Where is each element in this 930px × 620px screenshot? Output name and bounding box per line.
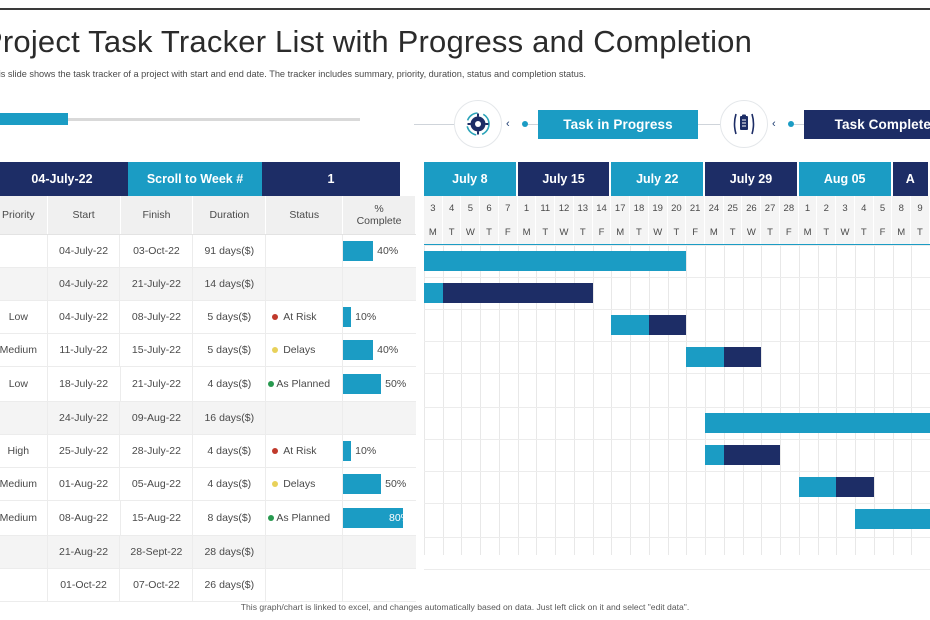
gantt-day-cell: 7: [499, 196, 518, 220]
cell-priority: [0, 402, 48, 434]
gantt-dow-cell: M: [611, 220, 630, 244]
gantt-week-band: July 22: [611, 162, 705, 196]
status-dot: [272, 347, 278, 353]
gantt-bar[interactable]: [724, 347, 761, 367]
cell-duration: 5 days($): [193, 301, 266, 333]
status-label: As Planned: [276, 512, 330, 524]
cell-finish: 09-Aug-22: [120, 402, 193, 434]
gantt-dow-cell: T: [536, 220, 555, 244]
gantt-gridline-h: [424, 245, 930, 246]
gantt-week-band: July 15: [518, 162, 612, 196]
cell-status: As Planned: [266, 501, 343, 535]
gantt-gridline-v: [593, 245, 594, 555]
gantt-dow-cell: F: [686, 220, 705, 244]
percent-label: 50%: [385, 378, 406, 390]
cell-percent: 50%: [343, 468, 416, 500]
cell-finish: 15-July-22: [120, 334, 193, 366]
gantt-gridline-v: [611, 245, 612, 555]
th-duration: Duration: [193, 196, 266, 234]
cell-priority: Medium: [0, 334, 48, 366]
gantt-bar[interactable]: [705, 445, 724, 465]
cell-percent: 10%: [343, 301, 416, 333]
th-status: Status: [266, 196, 343, 234]
th-start: Start: [48, 196, 121, 234]
cell-percent: 50%: [343, 367, 416, 401]
gantt-bar[interactable]: [611, 315, 648, 335]
gantt-dow-cell: W: [649, 220, 668, 244]
table-row[interactable]: Low18-July-2221-July-224 days($)As Plann…: [0, 367, 416, 402]
cell-status: [266, 268, 343, 300]
cell-status: [266, 569, 343, 601]
cell-duration: 26 days($): [193, 569, 266, 601]
gantt-day-cell: 5: [874, 196, 893, 220]
table-row[interactable]: 24-July-2209-Aug-2216 days($): [0, 402, 416, 435]
gantt-gridline-v: [705, 245, 706, 555]
gantt-gridline-h: [424, 309, 930, 310]
percent-label: 10%: [355, 311, 376, 323]
percent-label: 10%: [355, 445, 376, 457]
gantt-day-cell: 24: [705, 196, 724, 220]
gantt-dow-cell: W: [742, 220, 761, 244]
gantt-dow-cell: T: [630, 220, 649, 244]
gantt-dow-cell: M: [424, 220, 443, 244]
gantt-day-cell: 26: [742, 196, 761, 220]
table-header-row: Priority Start Finish Duration Status %C…: [0, 196, 416, 235]
gantt-gridline-v: [630, 245, 631, 555]
gantt-week-band: July 8: [424, 162, 518, 196]
gantt-bar[interactable]: [799, 477, 836, 497]
cell-status: At Risk: [266, 301, 343, 333]
cell-finish: 15-Aug-22: [121, 501, 194, 535]
gantt-day-cell: 9: [911, 196, 930, 220]
gantt-dow-cell: F: [780, 220, 799, 244]
gantt-bar[interactable]: [424, 251, 686, 271]
gantt-dow-cell: T: [574, 220, 593, 244]
cell-duration: 8 days($): [193, 501, 266, 535]
cell-finish: 21-July-22: [121, 367, 194, 401]
gantt-day-cell: 25: [724, 196, 743, 220]
cell-finish: 03-Oct-22: [120, 235, 193, 267]
gantt-week-band: Aug 05: [799, 162, 893, 196]
th-percent-complete: %Complete: [343, 196, 416, 234]
table-row[interactable]: 21-Aug-2228-Sept-2228 days($): [0, 536, 416, 569]
cell-percent: [343, 536, 416, 568]
top-rule: [0, 8, 930, 10]
gantt-dow-cell: T: [480, 220, 499, 244]
cell-priority: [0, 536, 48, 568]
gantt-dow-cell: F: [593, 220, 612, 244]
cell-percent: 80%: [343, 501, 416, 535]
table-row[interactable]: High25-July-2228-July-224 days($)At Risk…: [0, 435, 416, 468]
cell-duration: 4 days($): [193, 435, 266, 467]
gantt-day-cell: 8: [892, 196, 911, 220]
scroll-to-week-value[interactable]: 1: [262, 162, 400, 196]
gantt-gridline-v: [818, 245, 819, 555]
cell-duration: 28 days($): [193, 536, 266, 568]
cell-status: [266, 402, 343, 434]
status-dot: [272, 448, 278, 454]
gantt-bar[interactable]: [443, 283, 593, 303]
cell-priority: [0, 268, 48, 300]
cell-duration: 91 days($): [193, 235, 266, 267]
cell-start: 01-Aug-22: [48, 468, 121, 500]
gear-icon: [454, 100, 502, 148]
cell-start: 18-July-22: [48, 367, 121, 401]
gantt-day-cell: 2: [817, 196, 836, 220]
cell-priority: High: [0, 435, 48, 467]
gantt-day-cell: 3: [424, 196, 443, 220]
gantt-dow-cell: T: [668, 220, 687, 244]
cell-percent: 40%: [343, 334, 416, 366]
cell-status: Delays: [266, 334, 343, 366]
legend-connector: [414, 124, 454, 125]
gantt-bar[interactable]: [686, 347, 723, 367]
gantt-dow-cell: M: [518, 220, 537, 244]
percent-label: 50%: [385, 478, 406, 490]
percent-bar: [343, 340, 373, 360]
page-title: Project Task Tracker List with Progress …: [0, 22, 930, 62]
gantt-dow-cell: W: [836, 220, 855, 244]
cell-duration: 4 days($): [193, 468, 266, 500]
gantt-bars-area: [424, 245, 930, 555]
gantt-day-cell: 1: [518, 196, 537, 220]
cell-duration: 5 days($): [193, 334, 266, 366]
gantt-day-cell: 12: [555, 196, 574, 220]
gantt-day-cell: 18: [630, 196, 649, 220]
cell-percent: [343, 569, 416, 601]
cell-start: 04-July-22: [48, 268, 121, 300]
legend: ‹ Task in Progress ‹ Task Completed: [450, 100, 930, 150]
percent-bar: [343, 474, 381, 494]
gantt-dow-cell: F: [874, 220, 893, 244]
gantt-day-cell: 3: [836, 196, 855, 220]
table-row[interactable]: Low04-July-2208-July-225 days($)At Risk1…: [0, 301, 416, 334]
cell-start: 04-July-22: [48, 235, 121, 267]
gantt-bar[interactable]: [705, 413, 930, 433]
th-finish: Finish: [121, 196, 194, 234]
cell-finish: 07-Oct-22: [120, 569, 193, 601]
gantt-day-cell: 21: [686, 196, 705, 220]
table-control-band: 04-July-22 Scroll to Week # 1: [0, 162, 416, 196]
gantt-gridline-v: [761, 245, 762, 555]
status-label: As Planned: [276, 378, 330, 390]
gantt-gridline-v: [668, 245, 669, 555]
status-dot: [272, 314, 278, 320]
cell-finish: 28-Sept-22: [120, 536, 193, 568]
gantt-day-numbers: 3456711112131417181920212425262728123458…: [424, 196, 930, 220]
cell-status: [266, 235, 343, 267]
gantt-dow-cell: T: [911, 220, 930, 244]
gantt-day-cell: 4: [855, 196, 874, 220]
gantt-day-cell: 14: [593, 196, 612, 220]
gantt-gridline-h: [424, 373, 930, 374]
legend-chip-task-in-progress[interactable]: Task in Progress: [538, 110, 698, 139]
gantt-bar[interactable]: [855, 509, 930, 529]
gantt-bar[interactable]: [424, 283, 443, 303]
percent-bar: [343, 241, 373, 261]
gantt-dow-cell: M: [892, 220, 911, 244]
progress-fill: [0, 113, 68, 125]
gantt-gridline-h: [424, 407, 930, 408]
cell-priority: Low: [0, 367, 48, 401]
gantt-day-cell: 11: [536, 196, 555, 220]
cell-percent: [343, 268, 416, 300]
percent-bar: [343, 441, 351, 461]
gantt-dow-cell: W: [461, 220, 480, 244]
gantt-week-header: July 8July 15July 22July 29Aug 05A: [424, 162, 930, 196]
cell-start: 01-Oct-22: [48, 569, 121, 601]
table-body: 04-July-2203-Oct-2291 days($)40%04-July-…: [0, 235, 416, 602]
gantt-dow-cell: F: [499, 220, 518, 244]
task-table: 04-July-22 Scroll to Week # 1 Priority S…: [0, 162, 416, 602]
gantt-day-cell: 6: [480, 196, 499, 220]
status-dot: [272, 481, 278, 487]
footer-note: This graph/chart is linked to excel, and…: [0, 602, 930, 612]
cell-start: 21-Aug-22: [48, 536, 121, 568]
percent-label: 80%: [389, 512, 410, 524]
gantt-dow-cell: T: [761, 220, 780, 244]
cell-duration: 14 days($): [193, 268, 266, 300]
cell-status: [266, 536, 343, 568]
cell-finish: 28-July-22: [120, 435, 193, 467]
table-row[interactable]: 01-Oct-2207-Oct-2226 days($): [0, 569, 416, 602]
scroll-to-week-label[interactable]: Scroll to Week #: [128, 162, 262, 196]
cell-finish: 21-July-22: [120, 268, 193, 300]
gantt-bar[interactable]: [649, 315, 686, 335]
gantt-day-cell: 27: [761, 196, 780, 220]
gantt-gridline-v: [724, 245, 725, 555]
status-label: At Risk: [283, 445, 316, 457]
gantt-day-cell: 17: [611, 196, 630, 220]
cell-percent: 40%: [343, 235, 416, 267]
legend-arrow-2: ‹: [772, 118, 776, 130]
gantt-dow-cell: M: [705, 220, 724, 244]
gantt-gridline-v: [799, 245, 800, 555]
percent-bar: [343, 307, 351, 327]
gantt-day-cell: 20: [668, 196, 687, 220]
status-label: At Risk: [283, 311, 316, 323]
project-start-value[interactable]: 04-July-22: [0, 162, 128, 196]
cell-percent: [343, 402, 416, 434]
gantt-dow-cell: T: [443, 220, 462, 244]
cell-start: 24-July-22: [48, 402, 121, 434]
percent-label: 40%: [377, 245, 398, 257]
cell-duration: 16 days($): [193, 402, 266, 434]
gantt-day-cell: 1: [799, 196, 818, 220]
page-subtitle: This slide shows the task tracker of a p…: [0, 68, 930, 80]
clipboard-checklist-icon: [720, 100, 768, 148]
cell-priority: Medium: [0, 468, 48, 500]
gantt-gridline-v: [649, 245, 650, 555]
cell-start: 08-Aug-22: [48, 501, 121, 535]
table-row[interactable]: Medium11-July-2215-July-225 days($)Delay…: [0, 334, 416, 367]
gantt-weekday-letters: MTWTFMTWTFMTWTFMTWTFMTWTFMT: [424, 220, 930, 245]
table-row[interactable]: Medium01-Aug-2205-Aug-224 days($)Delays5…: [0, 468, 416, 501]
gantt-gridline-v: [686, 245, 687, 555]
gantt-day-cell: 28: [780, 196, 799, 220]
legend-chip-task-completed[interactable]: Task Completed: [804, 110, 930, 139]
table-row[interactable]: Medium08-Aug-2215-Aug-228 days($)As Plan…: [0, 501, 416, 536]
status-label: Delays: [283, 344, 315, 356]
cell-start: 04-July-22: [48, 301, 121, 333]
cell-start: 25-July-22: [48, 435, 121, 467]
cell-duration: 4 days($): [193, 367, 266, 401]
cell-priority: Low: [0, 301, 48, 333]
percent-label: 40%: [377, 344, 398, 356]
th-priority: Priority: [0, 196, 48, 234]
gantt-gridline-h: [424, 471, 930, 472]
cell-priority: [0, 569, 48, 601]
gantt-bar[interactable]: [724, 445, 780, 465]
gantt-gridline-v: [743, 245, 744, 555]
gantt-chart: July 8July 15July 22July 29Aug 05A 34567…: [424, 162, 930, 555]
status-dot: [268, 381, 274, 387]
status-dot: [268, 515, 274, 521]
legend-arrow-1: ‹: [506, 118, 510, 130]
cell-status: Delays: [266, 468, 343, 500]
table-row[interactable]: 04-July-2203-Oct-2291 days($)40%: [0, 235, 416, 268]
gantt-gridline-h: [424, 503, 930, 504]
cell-finish: 05-Aug-22: [120, 468, 193, 500]
cell-status: At Risk: [266, 435, 343, 467]
cell-priority: Medium: [0, 501, 48, 535]
gantt-dow-cell: T: [724, 220, 743, 244]
gantt-dow-cell: T: [855, 220, 874, 244]
gantt-day-cell: 19: [649, 196, 668, 220]
table-row[interactable]: 04-July-2221-July-2214 days($): [0, 268, 416, 301]
gantt-day-cell: 13: [574, 196, 593, 220]
status-label: Delays: [283, 478, 315, 490]
gantt-gridline-h: [424, 439, 930, 440]
gantt-dow-cell: W: [555, 220, 574, 244]
gantt-gridline-h: [424, 277, 930, 278]
cell-priority: [0, 235, 48, 267]
gantt-gridline-h: [424, 537, 930, 538]
cell-finish: 08-July-22: [120, 301, 193, 333]
gantt-bar[interactable]: [836, 477, 873, 497]
gantt-week-band: July 29: [705, 162, 799, 196]
gantt-gridline-v: [836, 245, 837, 555]
gantt-dow-cell: T: [817, 220, 836, 244]
cell-start: 11-July-22: [48, 334, 121, 366]
gantt-week-band: A: [893, 162, 930, 196]
gantt-day-cell: 4: [443, 196, 462, 220]
percent-bar: [343, 374, 381, 394]
cell-status: As Planned: [266, 367, 343, 401]
gantt-gridline-v: [780, 245, 781, 555]
legend-connector-3: [698, 124, 720, 125]
gantt-gridline-h: [424, 341, 930, 342]
gantt-day-cell: 5: [461, 196, 480, 220]
gantt-gridline-h: [424, 569, 930, 570]
gantt-dow-cell: M: [799, 220, 818, 244]
cell-percent: 10%: [343, 435, 416, 467]
